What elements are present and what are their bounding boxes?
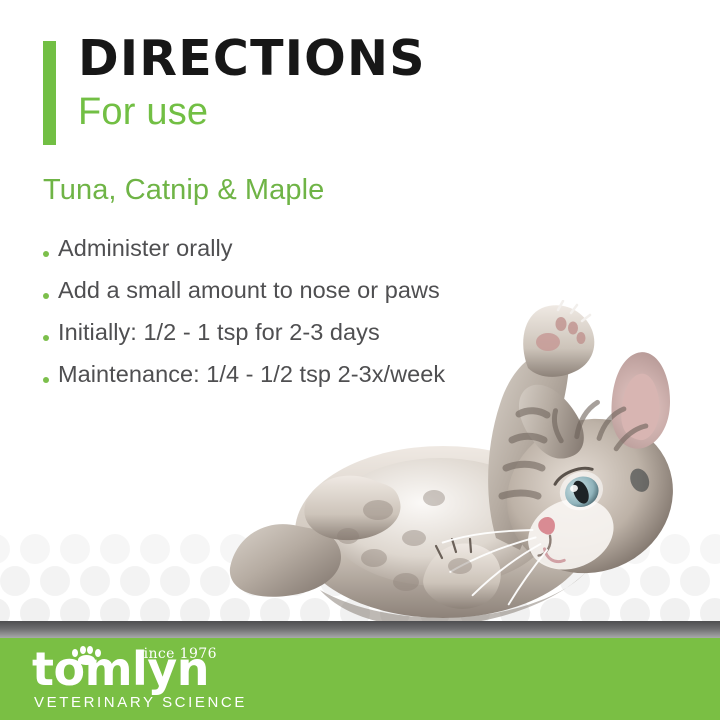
brand-footer: tomlyn since 1976 VETERINARY SCIENCE [0, 638, 720, 720]
directions-header: DIRECTIONS For use [43, 38, 643, 150]
flavour-heading: Tuna, Catnip & Maple [43, 176, 324, 205]
watermark-dot [100, 534, 130, 564]
watermark-dot [140, 534, 170, 564]
bullet-dot-icon [43, 251, 49, 257]
bullet-dot-icon [43, 377, 49, 383]
list-item: Administer orally [43, 228, 603, 270]
page-subtitle: For use [78, 93, 208, 131]
bullet-dot-icon [43, 335, 49, 341]
product-label-panel: DIRECTIONS For use Tuna, Catnip & Maple … [0, 0, 720, 720]
watermark-dot [120, 566, 150, 596]
watermark-dot [0, 566, 30, 596]
tomlyn-logo: tomlyn since 1976 VETERINARY SCIENCE [32, 644, 292, 716]
watermark-dot [180, 534, 210, 564]
list-item-label: Administer orally [58, 237, 233, 261]
watermark-dot [0, 534, 10, 564]
kitten-photo [228, 300, 720, 645]
surface-strip [0, 621, 720, 638]
green-accent-bar [43, 41, 56, 145]
since-label: since 1976 [136, 647, 217, 661]
paw-print-icon [71, 646, 101, 664]
watermark-dot [160, 566, 190, 596]
watermark-dot [40, 566, 70, 596]
bullet-dot-icon [43, 293, 49, 299]
page-title: DIRECTIONS [78, 34, 426, 83]
watermark-dot [80, 566, 110, 596]
watermark-dot [200, 566, 230, 596]
watermark-dot [20, 534, 50, 564]
brand-tagline: VETERINARY SCIENCE [34, 695, 247, 710]
watermark-dot [60, 534, 90, 564]
